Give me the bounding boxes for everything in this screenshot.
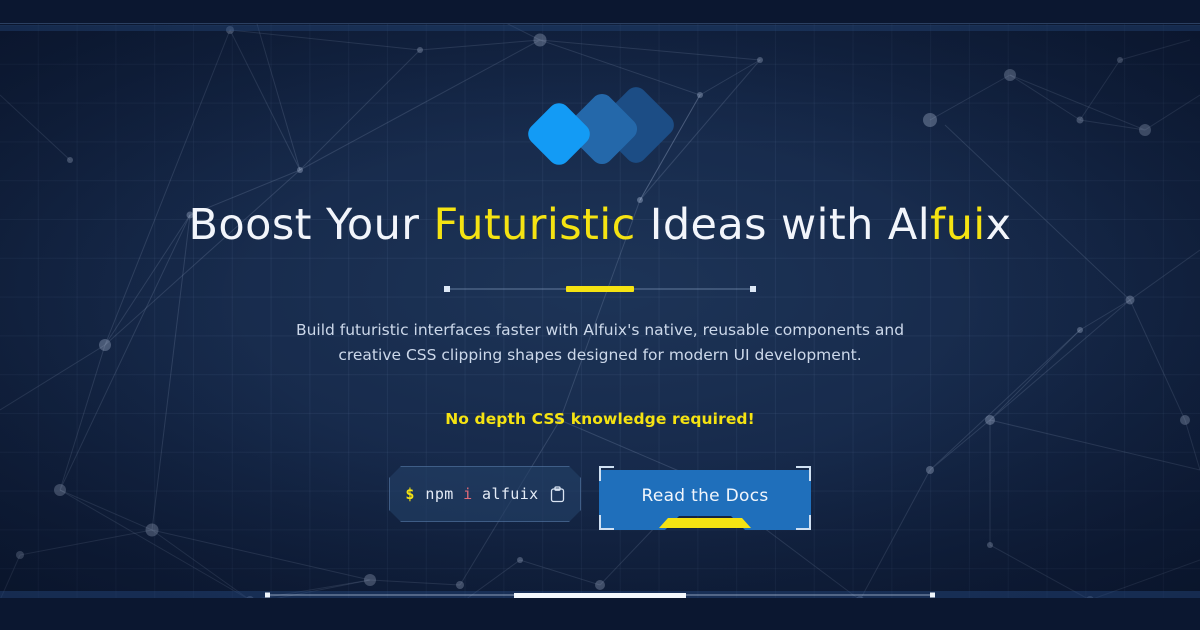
docs-button-accent-tab [659,518,751,528]
bottom-rule-cap-left [265,593,270,598]
read-the-docs-button[interactable]: Read the Docs [599,466,811,538]
npm-command-flag: i [463,485,472,503]
subtitle-line-2: creative CSS clipping shapes designed fo… [296,343,904,368]
corner-bracket-bottom-right [796,515,811,530]
corner-bracket-top-left [599,466,614,481]
title-highlight-futuristic: Futuristic [433,200,635,250]
npm-install-copy-box[interactable]: $ npm i alfuix [389,466,581,522]
npm-command-text: npm i alfuix [425,485,538,503]
hero-actions: $ npm i alfuix Read the Docs [389,466,811,538]
corner-bracket-top-right [796,466,811,481]
title-brand-suffix: x [986,200,1012,250]
corner-bracket-bottom-left [599,515,614,530]
page-title: Boost Your Futuristic Ideas with Alfuix [189,200,1012,250]
alfuix-diamond-logo [534,90,666,176]
clipboard-icon[interactable] [550,486,565,503]
title-part-3: Ideas with [636,200,888,250]
bottom-rule-bar [514,593,686,598]
hero-section: Boost Your Futuristic Ideas with Alfuix … [0,0,1200,630]
npm-command-pkg: npm [425,485,453,503]
docs-button-label: Read the Docs [641,486,768,506]
divider-cap-right [750,286,756,292]
subtitle-line-1: Build futuristic interfaces faster with … [296,318,904,343]
terminal-prompt-icon: $ [405,485,414,503]
divider-accent-bar [566,286,634,292]
hero-tagline: No depth CSS knowledge required! [445,410,755,428]
hero-subtitle: Build futuristic interfaces faster with … [296,318,904,368]
title-part-1: Boost Your [189,200,434,250]
bottom-rule-cap-right [930,593,935,598]
bottom-accent-rule [265,591,935,599]
title-brand-highlight: fui [930,200,986,250]
title-divider [444,282,756,296]
divider-cap-left [444,286,450,292]
npm-command-name: alfuix [482,485,539,503]
title-brand-prefix: Al [888,200,930,250]
